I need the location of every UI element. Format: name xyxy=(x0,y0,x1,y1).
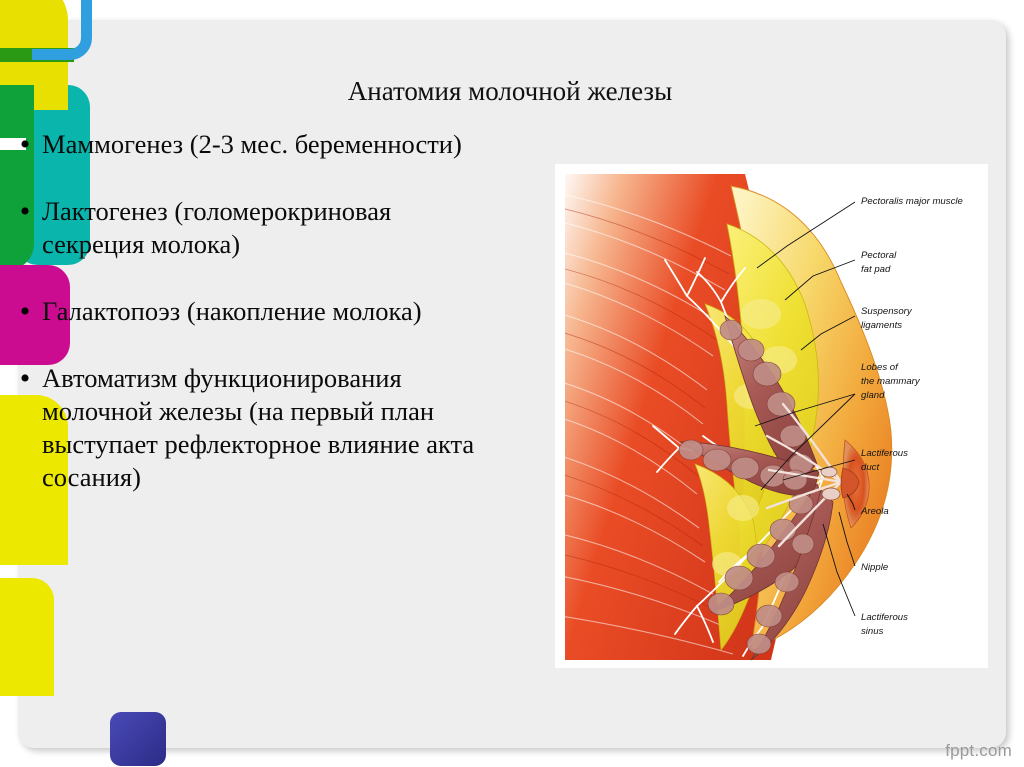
breast-anatomy-diagram: Pectoralis major muscle Pectoral fat pad… xyxy=(555,164,988,668)
label-lactiferous-sinus-line2: sinus xyxy=(861,626,884,637)
list-item: • Маммогенез (2-3 мес. беременности) xyxy=(8,128,478,161)
label-lobes-of-mammary-gland-line1: Lobes of xyxy=(861,362,899,373)
label-lobes-of-mammary-gland-line2: the mammary xyxy=(861,376,921,387)
deco-yellow-low-band xyxy=(0,578,54,696)
label-areola: Areola xyxy=(860,506,889,517)
bullet-text: Маммогенез (2-3 мес. беременности) xyxy=(42,128,478,161)
label-pectoral-fat-pad-line2: fat pad xyxy=(861,264,891,275)
label-suspensory-ligaments-line2: ligaments xyxy=(861,320,902,331)
label-lactiferous-duct-line1: Lactiferous xyxy=(861,448,908,459)
label-nipple: Nipple xyxy=(861,562,888,573)
label-suspensory-ligaments-line1: Suspensory xyxy=(861,306,913,317)
watermark-fppt: fppt.com xyxy=(945,741,1012,761)
list-item: • Галактопоэз (накопление молока) xyxy=(8,295,478,328)
label-lobes-of-mammary-gland-line3: gland xyxy=(861,390,885,401)
bullet-marker-icon: • xyxy=(8,362,42,394)
label-pectoralis-major-muscle: Pectoralis major muscle xyxy=(861,196,963,207)
slide-stage: Анатомия молочной железы • Маммогенез (2… xyxy=(0,0,1024,767)
label-pectoral-fat-pad-line1: Pectoral xyxy=(861,250,897,261)
list-item: • Лактогенез (голомерокриновая секреция … xyxy=(8,195,478,261)
bullet-list: • Маммогенез (2-3 мес. беременности) • Л… xyxy=(8,128,478,528)
page-title: Анатомия молочной железы xyxy=(180,76,840,107)
bullet-text: Лактогенез (голомерокриновая секреция мо… xyxy=(42,195,478,261)
bullet-text: Галактопоэз (накопление молока) xyxy=(42,295,478,328)
list-item: • Автоматизм функционирования молочной ж… xyxy=(8,362,478,494)
bullet-marker-icon: • xyxy=(8,128,42,160)
label-lactiferous-sinus-line1: Lactiferous xyxy=(861,612,908,623)
bullet-marker-icon: • xyxy=(8,195,42,227)
label-lactiferous-duct-line2: duct xyxy=(861,462,879,473)
bullet-marker-icon: • xyxy=(8,295,42,327)
bullet-text: Автоматизм функционирования молочной жел… xyxy=(42,362,478,494)
deco-navy-square xyxy=(110,712,166,766)
deco-blue-hook-line xyxy=(32,0,92,60)
